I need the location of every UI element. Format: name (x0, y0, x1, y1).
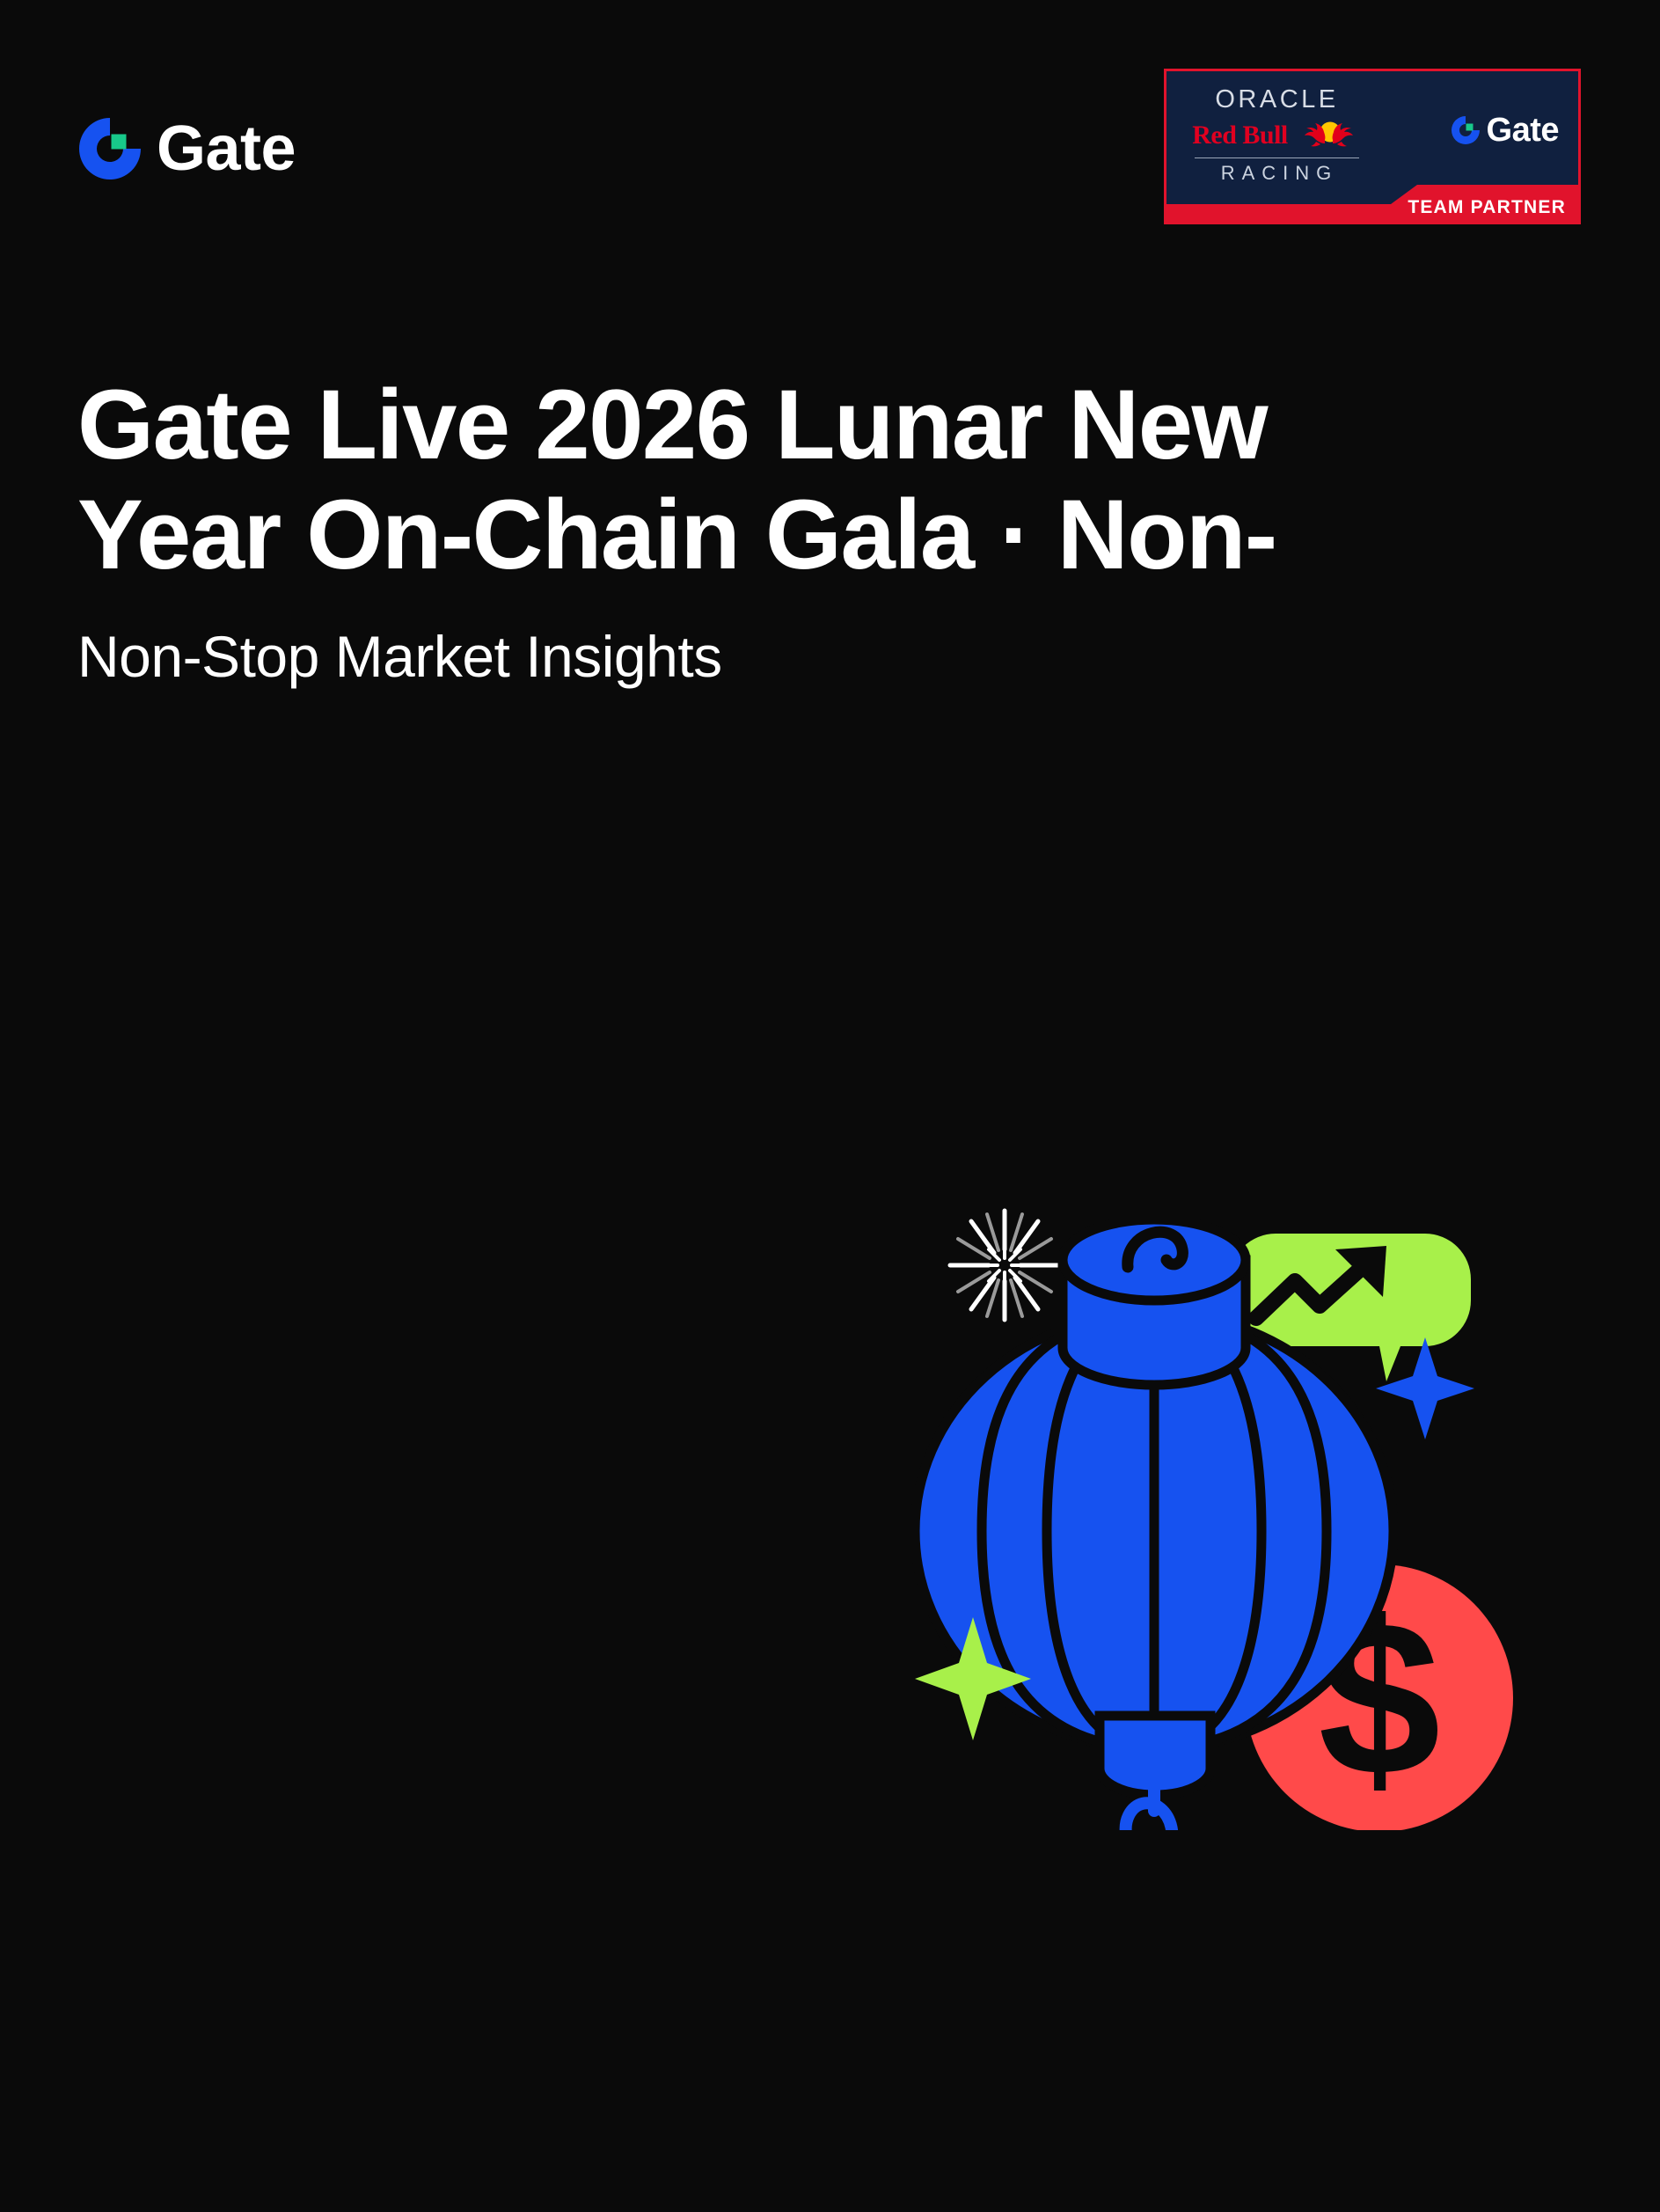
badge-gate-lockup: Gate (1451, 114, 1559, 147)
oracle-red-bull-racing-team-partner-badge[interactable]: ORACLE Red Bull RACING (1164, 69, 1581, 224)
logo-divider (1195, 157, 1359, 158)
lunar-new-year-lantern-illustration: $ (897, 1161, 1566, 1830)
gate-brand-lockup[interactable]: Gate (77, 116, 296, 181)
red-bull-charging-bulls-icon (1291, 121, 1362, 150)
badge-gate-name: Gate (1487, 114, 1559, 147)
page-header: Gate ORACLE Red Bull (0, 0, 1660, 255)
racing-label: RACING (1191, 164, 1363, 183)
page-title-line-2: Year On-Chain Gala · Non- (77, 480, 1555, 590)
firework-burst-icon (950, 1211, 1059, 1320)
team-partner-label: TEAM PARTNER (1408, 198, 1566, 216)
gate-logo-mark-icon (1451, 115, 1481, 145)
red-bull-label: Red Bull (1192, 122, 1288, 149)
gate-brand-name: Gate (157, 117, 296, 180)
page-title-line-1: Gate Live 2026 Lunar New (77, 370, 1555, 480)
oracle-red-bull-racing-logo: ORACLE Red Bull RACING (1191, 87, 1363, 183)
page-subtitle: Non-Stop Market Insights (77, 624, 1555, 691)
title-block: Gate Live 2026 Lunar New Year On-Chain G… (77, 370, 1555, 691)
oracle-label: ORACLE (1191, 87, 1363, 113)
gate-logo-mark-icon (77, 116, 143, 181)
